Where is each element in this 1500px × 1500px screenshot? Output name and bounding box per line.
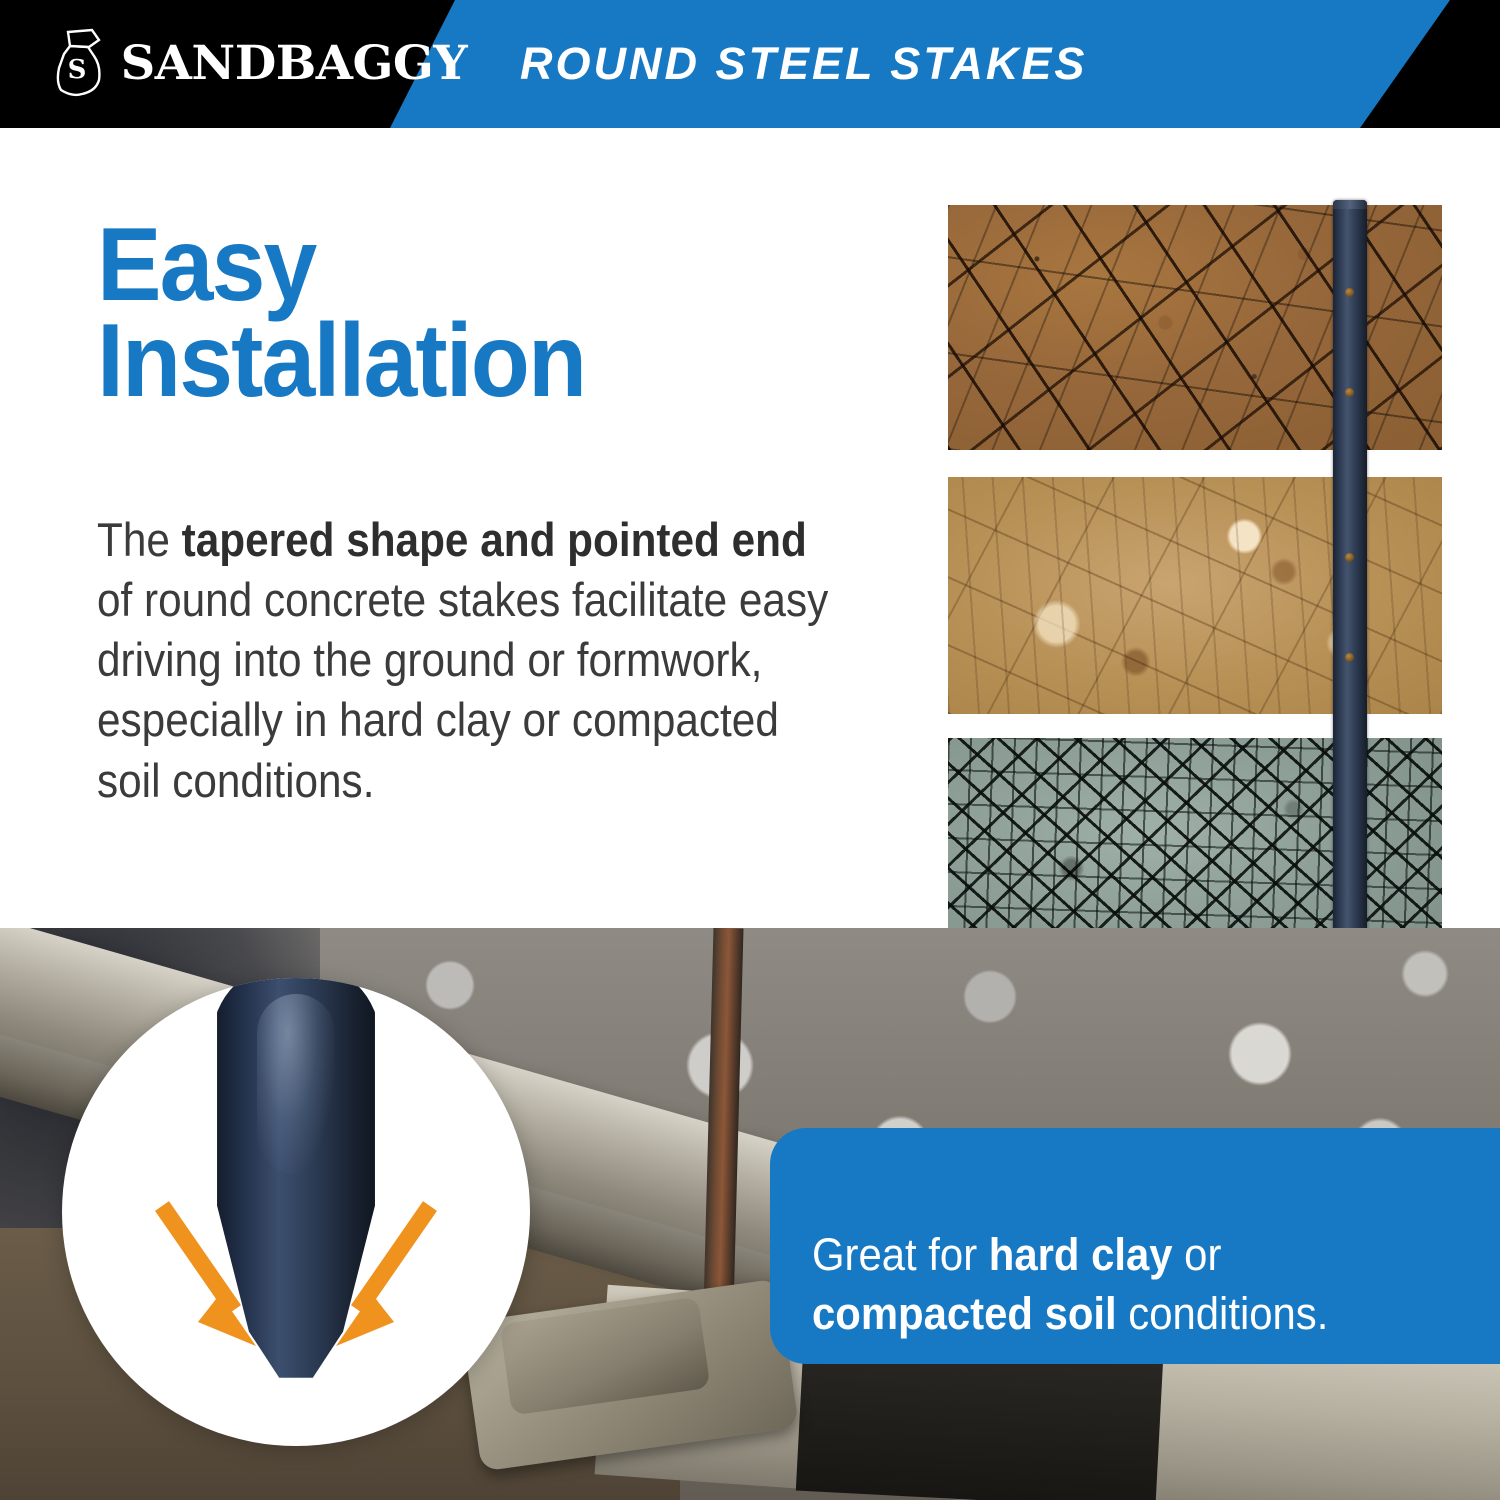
infographic-page: S SANDBAGGY ROUND STEEL STAKES Easy Inst… [0,0,1500,1500]
callout-part-1: Great for [812,1229,989,1280]
stake-nail-hole [1345,388,1354,397]
callout-bold-2: compacted soil [812,1288,1117,1339]
left-pointer-arrow-icon [148,1194,278,1354]
brand-logo-text: SANDBAGGY [121,40,467,87]
status-badge: Great for hard clay or compacted soil co… [770,1128,1500,1364]
cracked-brown-clay-soil-image [948,205,1442,450]
soil-panel-1 [948,205,1442,450]
headline-line-2: Installation [97,303,585,419]
sandbag-icon: S [52,28,110,98]
stake-top-cap [1333,200,1367,209]
svg-text:S: S [68,55,87,85]
stake-nail-hole [1345,553,1354,562]
stake-nail-hole [1345,653,1354,662]
body-part-2: of round concrete stakes facilitate easy… [97,573,828,806]
body-bold-1: tapered shape and pointed end [182,513,807,566]
soil-panel-2 [948,477,1442,714]
page-title: Easy Installation [97,218,841,409]
soil-condition-panels [948,205,1442,975]
round-steel-stake-shaft [1333,200,1367,984]
body-part-1: The [97,513,182,566]
callout-text: Great for hard clay or compacted soil co… [812,1225,1435,1344]
right-pointer-arrow-icon [314,1194,444,1354]
callout-bold-1: hard clay [989,1229,1173,1280]
header-bar: S SANDBAGGY ROUND STEEL STAKES [0,0,1500,128]
header-title: ROUND STEEL STAKES [520,38,1087,90]
tapered-pointed-tip-closeup [62,978,530,1446]
callout-part-2: or [1173,1229,1222,1280]
tan-compacted-rocky-soil-image [948,477,1442,714]
stake-nail-hole [1345,288,1354,297]
callout-part-3: conditions. [1117,1288,1329,1339]
brand-logo[interactable]: S SANDBAGGY [52,28,464,98]
body-paragraph: The tapered shape and pointed end of rou… [97,510,844,811]
